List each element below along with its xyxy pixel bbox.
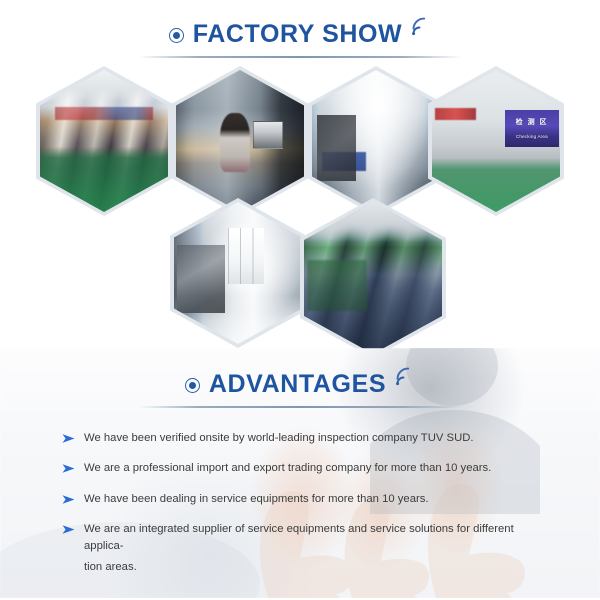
factory-photo-machinery-room	[312, 70, 440, 212]
factory-photo-workshop	[174, 202, 302, 344]
gallery-hex-5[interactable]	[170, 198, 306, 348]
blue-arrow-icon	[62, 463, 75, 474]
list-item: We are a professional import and export …	[62, 460, 552, 476]
checking-area-sign-en: Checking Area	[508, 134, 557, 140]
gallery-hex-4[interactable]: 检 测 区 Checking Area	[428, 66, 564, 216]
list-item-text: We are an integrated supplier of service…	[84, 521, 552, 554]
target-icon	[169, 28, 184, 43]
list-item-text: We have been dealing in service equipmen…	[84, 491, 429, 507]
checking-area-sign-cn: 检 测 区	[510, 117, 554, 127]
list-item-text: We are a professional import and export …	[84, 460, 491, 476]
factory-photo-gallery: 检 测 区 Checking Area	[0, 58, 600, 348]
advantages-heading: ADVANTAGES	[0, 348, 600, 408]
advantages-title: ADVANTAGES	[209, 370, 386, 399]
advantages-list: We have been verified onsite by world-le…	[62, 430, 552, 573]
advantages-section: ADVANTAGES We have been verified onsi	[0, 348, 600, 598]
heading-inner: ADVANTAGES	[185, 370, 415, 399]
heading-divider	[139, 406, 461, 408]
factory-photo-assembly-line	[40, 70, 168, 212]
gallery-hex-3[interactable]	[308, 66, 444, 216]
gallery-hex-2[interactable]	[172, 66, 308, 216]
blue-arrow-icon	[62, 524, 75, 535]
list-item: We are an integrated supplier of service…	[62, 521, 552, 554]
blue-arrow-icon	[62, 433, 75, 444]
list-item-text: We have been verified onsite by world-le…	[84, 430, 474, 446]
page-title: FACTORY SHOW	[193, 20, 403, 49]
wifi-signal-icon	[409, 16, 431, 38]
list-item: We have been verified onsite by world-le…	[62, 430, 552, 446]
list-item-text-continuation: tion areas.	[84, 561, 552, 573]
gallery-hex-1[interactable]	[36, 66, 172, 216]
factory-photo-workers-conveyor	[304, 202, 442, 354]
list-item: We have been dealing in service equipmen…	[62, 491, 552, 507]
target-icon	[185, 378, 200, 393]
gallery-hex-6[interactable]	[300, 198, 446, 358]
factory-photo-test-bench	[176, 70, 304, 212]
wifi-signal-icon	[393, 366, 415, 388]
factory-show-heading: FACTORY SHOW	[0, 0, 600, 58]
blue-arrow-icon	[62, 494, 75, 505]
factory-photo-checking-area: 检 测 区 Checking Area	[432, 70, 560, 212]
heading-inner: FACTORY SHOW	[169, 20, 432, 49]
